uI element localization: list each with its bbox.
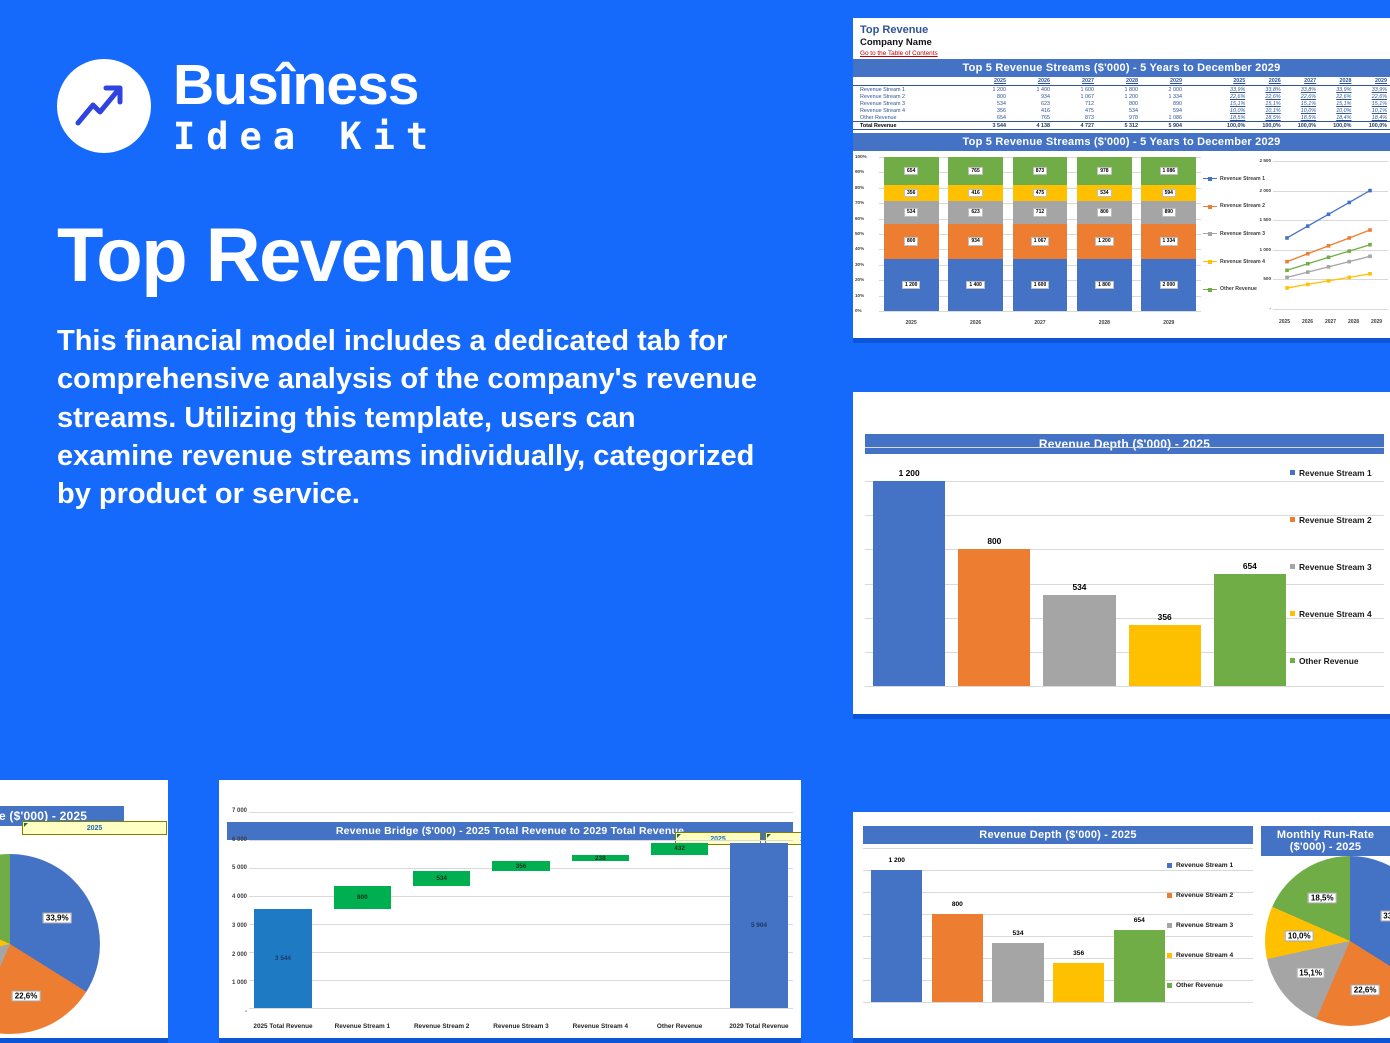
revenue-depth-panel[interactable]: Revenue Depth ($'000) - 2025 1 200800534… [853,392,1390,719]
bar-value-label: 800 [1097,208,1111,216]
depth-bar: 534 [992,943,1043,1002]
x-category-label: 2028 [1342,319,1365,325]
x-category-label: Revenue Stream 4 [566,1023,634,1030]
legend-label: Revenue Stream 1 [1299,468,1372,478]
row-pct: 10,1% [1354,107,1390,114]
bar-segment: 765 [948,157,1003,185]
bar-value-label: 534 [904,208,918,216]
bridge-bar: 5 904 [730,843,787,1008]
bar-value-label: 873 [1033,167,1047,175]
pie-chart-right: 33,9%22,6%15,1%10,0%18,5% [1265,856,1390,1026]
legend-item: Revenue Stream 3 [1290,562,1382,572]
row-value: 1 086 [1142,114,1186,122]
stacked-bar-column: 1 0865948901 3342 000 [1141,157,1196,311]
x-category-label: 2027 [1319,319,1342,325]
bar-segment: 890 [1141,201,1196,224]
legend-line-icon [1203,233,1217,234]
legend-swatch-icon [1167,983,1172,988]
x-category-label: 2028 [1077,320,1132,326]
y-tick-label: 60% [855,216,864,221]
gridline [865,686,1384,687]
brand-name-primary: Busîness [173,57,439,114]
year-header: 2029 [1142,77,1186,85]
bridge-bar: 3 544 [254,909,311,1008]
legend-label: Other Revenue [1176,982,1223,989]
bar-value-label: 623 [968,208,982,216]
legend-swatch-icon [1290,517,1295,522]
year-header: 2027 [1054,77,1098,85]
row-pct: 22,6% [1284,93,1319,100]
x-category-label: 2026 [948,320,1003,326]
bar-value-label: 1 400 [966,281,985,289]
bar-segment: 416 [948,185,1003,201]
pie-slices [0,854,100,1034]
bar-value-label: 978 [1097,167,1111,175]
table-total-row: Total Revenue3 5444 1384 7275 3125 90410… [853,122,1390,130]
x-category-label: Revenue Stream 3 [487,1023,555,1030]
row-value: 475 [1054,107,1098,114]
year-header: 2028 [1098,77,1142,85]
page-title: Top Revenue [57,212,512,299]
legend-label: Revenue Stream 1 [1220,176,1265,182]
row-label: Revenue Stream 2 [853,93,966,100]
row-pct: 15,1% [1354,100,1390,107]
bar-segment: 623 [948,201,1003,224]
pie-value-label: 22,6% [1351,984,1380,995]
bar-segment: 356 [884,185,939,200]
row-pct: 18,4% [1354,114,1390,122]
depth-bar: 654 [1214,574,1286,686]
sheet-header: Top Revenue Company Name Go to the Table… [853,18,1390,59]
depth-bar: 800 [958,549,1030,686]
x-category-label: 2025 Total Revenue [249,1023,317,1030]
revenue-depth-chart-2: 1 200800534356654 Revenue Stream 1Revenu… [863,848,1253,1002]
bar-value-label: 1 600 [1031,281,1050,289]
legend-label: Revenue Stream 4 [1220,259,1265,265]
x-category-label: 2029 [1365,319,1388,325]
bar-value-label: 475 [1033,189,1047,197]
bar-segment: 2 000 [1141,259,1196,311]
x-category-label: 2026 [1296,319,1319,325]
pie-chart-left: 33,9%22,6%15,1%10,0%18,5% [0,854,100,1034]
legend-item: Revenue Stream 2 [1290,515,1382,525]
stacked-bar-column: 9785348001 2001 800 [1077,157,1132,311]
pie-value-label: 33,9% [1380,911,1390,922]
row-value: 534 [1098,107,1142,114]
monthly-run-rate-panel-left[interactable]: Monthly Run-Rate ($'000) - 2025 2025 33,… [0,780,168,1043]
row-pct: 15,1% [1248,100,1283,107]
row-value: 873 [1054,114,1098,122]
row-pct: 33,9% [1213,86,1248,94]
row-value: 1 067 [1054,93,1098,100]
y-tick-label: 70% [855,200,864,205]
table-row: Revenue Stream 435641647553459410,0%10,1… [853,107,1390,114]
legend-swatch-icon [1290,564,1295,569]
chart-band-title: Top 5 Revenue Streams ($'000) - 5 Years … [853,133,1390,151]
row-pct: 33,8% [1284,86,1319,94]
row-value: 2 000 [1142,86,1186,94]
bar-value-label: 1 200 [902,281,921,289]
y-tick-label: 50% [855,231,864,236]
bridge-bar: 238 [572,855,629,862]
bar-segment: 1 334 [1141,224,1196,259]
bar-segment: 1 200 [1077,224,1132,259]
gridline [249,1008,793,1009]
depth-bar: 356 [1129,625,1201,686]
pie-value-label: 15,1% [1296,968,1325,979]
x-category-label: 2029 [1141,320,1196,326]
bar-segment: 800 [1077,201,1132,224]
legend-label: Revenue Stream 4 [1299,609,1372,619]
bar-segment: 1 800 [1077,259,1132,311]
depth-bar: 356 [1053,963,1104,1002]
trending-up-chart-icon [73,75,135,137]
depth-bar: 1 200 [873,481,945,686]
bar-value-label: 416 [968,189,982,197]
row-value: 800 [1098,100,1142,107]
bar-segment: 1 400 [948,259,1003,311]
pct-year-header: 2027 [1284,77,1319,85]
y-tick-label: 10% [855,293,864,298]
y-tick-label: 20% [855,277,864,282]
bar-segment: 1 086 [1141,157,1196,185]
depth-bar-value: 800 [958,536,1030,546]
year-header: 2026 [1010,77,1054,85]
row-label: Revenue Stream 3 [853,100,966,107]
y-tick-label: 7 000 [221,808,247,814]
table-band-title: Top 5 Revenue Streams ($'000) - 5 Years … [853,59,1390,77]
row-value: 712 [1054,100,1098,107]
y-tick-label: 100% [855,154,867,159]
y-tick-label: 2 000 [221,952,247,958]
legend-swatch-icon [1290,611,1295,616]
y-tick-label: 2 500 [1249,158,1271,163]
bridge-bar: 800 [334,886,391,908]
bar-segment: 594 [1141,185,1196,201]
row-pct: 10,0% [1213,107,1248,114]
row-value: 623 [1010,100,1054,107]
y-tick-label: 80% [855,185,864,190]
x-category-label: Revenue Stream 2 [408,1023,476,1030]
row-pct: 22,6% [1354,93,1390,100]
depth-bar-value: 800 [932,901,983,908]
row-pct: 18,5% [1284,114,1319,122]
bridge-column: 3 544 [249,812,317,1008]
legend-item: Revenue Stream 3 [1203,231,1265,237]
bar-segment: 654 [884,157,939,185]
x-category-label: Revenue Stream 1 [328,1023,396,1030]
row-pct: 10,0% [1319,107,1354,114]
year-selector-left[interactable]: 2025 [22,821,167,835]
bottom-right-charts-panel[interactable]: Revenue Depth ($'000) - 2025 1 200800534… [853,812,1390,1043]
bar-segment: 1 067 [1013,224,1068,259]
legend-label: Other Revenue [1299,656,1359,666]
panel-charts-row: 100%90%80%70%60%50%40%30%20%10%0% 654356… [853,151,1390,329]
brand-name-secondary: Idea Kit [173,118,439,155]
row-value: 1 400 [1010,86,1054,94]
y-tick-label: 30% [855,262,864,267]
legend-label: Revenue Stream 3 [1299,562,1372,572]
bridge-bar: 534 [413,871,470,886]
row-label: Revenue Stream 4 [853,107,966,114]
pie-value-label: 18,5% [1308,893,1337,904]
depth-bar-value: 654 [1214,561,1286,571]
table-row: Revenue Stream 353462371280089015,1%15,1… [853,100,1390,107]
legend-swatch-icon [1167,923,1172,928]
bridge-column: 238 [566,812,634,1008]
stacked-bar-column: 8734757121 0671 600 [1013,157,1068,311]
bar-value-label: 800 [904,237,918,245]
sheet-title: Top Revenue [860,24,1390,36]
bridge-bar: 432 [651,843,708,855]
depth-bar-value: 654 [1114,917,1165,924]
line-series-svg [1273,161,1376,309]
legend-label: Revenue Stream 4 [1176,952,1233,959]
row-pct: 15,1% [1319,100,1354,107]
row-value: 1 200 [966,86,1010,94]
window-titlebar [853,10,1390,18]
depth-bar: 534 [1043,595,1115,686]
row-pct: 22,6% [1319,93,1354,100]
revenue-depth-title-2: Revenue Depth ($'000) - 2025 [863,826,1253,844]
row-pct: 22,6% [1248,93,1283,100]
y-tick-label: 0% [855,308,862,313]
gridline [863,1002,1253,1003]
row-pct: 15,1% [1213,100,1248,107]
y-tick-label: 4 000 [221,894,247,900]
y-tick-label: 5 000 [221,865,247,871]
row-pct: 33,9% [1319,86,1354,94]
legend-swatch-icon [1167,953,1172,958]
legend-item: Other Revenue [1167,982,1251,989]
depth-bar: 800 [932,914,983,1002]
legend-swatch-icon [1167,893,1172,898]
bar-segment: 534 [884,201,939,224]
depth-bar: 1 200 [871,870,922,1002]
bar-segment: 873 [1013,157,1068,185]
y-tick-label: 1 500 [1249,217,1271,222]
depth-bar-value: 1 200 [873,468,945,478]
y-tick-label: - [1249,306,1271,311]
year-header: 2025 [966,77,1010,85]
stacked-bar-chart: 100%90%80%70%60%50%40%30%20%10%0% 654356… [853,151,1205,329]
legend-line-icon [1203,206,1217,207]
revenue-bridge-chart: 3 5448005343562384325 904 [219,780,801,1038]
legend-item: Revenue Stream 4 [1290,609,1382,619]
pie-slices [1265,856,1390,1026]
revenue-depth-chart: 1 200800534356654 Revenue Stream 1Revenu… [853,392,1390,714]
gridline [879,311,1201,312]
run-rate-title-right: Monthly Run-Rate ($'000) - 2025 [1261,826,1390,856]
legend-label: Revenue Stream 3 [1220,231,1265,237]
row-pct: 33,9% [1354,86,1390,94]
bridge-column: 534 [408,812,476,1008]
row-pct: 15,1% [1284,100,1319,107]
bar-segment: 475 [1013,185,1068,200]
y-tick-label: 1 000 [1249,247,1271,252]
hero-section: Busîness Idea Kit Top Revenue This finan… [0,0,840,780]
legend-item: Other Revenue [1203,286,1265,292]
bar-value-label: 765 [968,167,982,175]
row-value: 978 [1098,114,1142,122]
bar-value-label: 534 [1097,189,1111,197]
table-row: Revenue Stream 11 2001 4001 6001 8002 00… [853,86,1390,94]
depth-bar: 654 [1114,930,1165,1002]
row-pct: 18,5% [1248,114,1283,122]
bar-value-label: 1 067 [1031,237,1050,245]
sheet-company: Company Name [860,37,1390,48]
row-value: 1 334 [1142,93,1186,100]
legend-item: Other Revenue [1290,656,1382,666]
row-value: 594 [1142,107,1186,114]
row-value: 356 [966,107,1010,114]
bar-value-label: 712 [1033,208,1047,216]
bar-value-label: 356 [904,189,918,197]
x-category-label: Other Revenue [646,1023,714,1030]
bar-segment: 1 600 [1013,259,1068,311]
row-value: 800 [966,93,1010,100]
bridge-column: 5 904 [725,812,793,1008]
legend-line-icon [1203,289,1217,290]
bar-value-label: 1 800 [1095,281,1114,289]
legend-label: Other Revenue [1220,286,1257,292]
bridge-column: 432 [646,812,714,1008]
bar-segment: 712 [1013,201,1068,224]
revenue-bridge-panel[interactable]: Revenue Bridge ($'000) - 2025 Total Reve… [219,780,801,1043]
row-value: 934 [1010,93,1054,100]
row-pct: 22,6% [1213,93,1248,100]
depth-bar-value: 534 [1043,582,1115,592]
table-row: Revenue Stream 28009341 0671 2001 33422,… [853,93,1390,100]
legend-label: Revenue Stream 1 [1176,862,1233,869]
bar-segment: 934 [948,224,1003,259]
page-description: This financial model includes a dedicate… [57,322,757,513]
legend-item: Revenue Stream 4 [1203,259,1265,265]
legend-item: Revenue Stream 3 [1167,922,1251,929]
y-tick-label: - [221,1009,247,1015]
pct-year-header: 2025 [1213,77,1248,85]
legend-line-icon [1203,261,1217,262]
pct-year-header: 2026 [1248,77,1283,85]
row-value: 1 800 [1098,86,1142,94]
row-pct: 10,0% [1284,107,1319,114]
stacked-bar-column: 6543565348001 200 [884,157,939,311]
y-tick-label: 2 000 [1249,188,1271,193]
legend-swatch-icon [1290,470,1295,475]
depth-bar-value: 356 [1053,950,1104,957]
legend-label: Revenue Stream 2 [1220,203,1265,209]
bar-value-label: 2 000 [1160,281,1179,289]
bar-value-label: 654 [904,167,918,175]
stacked-bar-column: 7654166239341 400 [948,157,1003,311]
table-row: Other Revenue6547658739781 08618,5%18,5%… [853,114,1390,122]
legend-label: Revenue Stream 2 [1299,515,1372,525]
pie-value-label: 10,0% [1285,930,1314,941]
pct-year-header: 2029 [1354,77,1390,85]
bar-segment: 800 [884,224,939,259]
bridge-column: 356 [487,812,555,1008]
legend-line-icon [1203,178,1217,179]
logo-badge [57,59,151,153]
y-tick-label: 3 000 [221,923,247,929]
bar-value-label: 594 [1162,189,1176,197]
pie-value-label: 22,6% [12,990,41,1001]
row-label: Revenue Stream 1 [853,86,966,94]
legend-item: Revenue Stream 1 [1203,176,1265,182]
depth-bar-value: 356 [1129,612,1201,622]
y-tick-label: 6 000 [221,837,247,843]
table-header-row: 2025202620272028202920252026202720282029 [853,77,1390,85]
table-of-contents-link[interactable]: Go to the Table of Contents [860,50,1390,57]
row-value: 534 [966,100,1010,107]
x-category-label: 2027 [1013,320,1068,326]
x-category-label: 2025 [1273,319,1296,325]
bar-value-label: 890 [1162,208,1176,216]
gridline [1273,309,1388,310]
depth-bar-value: 534 [992,930,1043,937]
row-pct: 18,5% [1213,114,1248,122]
y-tick-label: 90% [855,169,864,174]
row-value: 765 [1010,114,1054,122]
y-tick-label: 40% [855,246,864,251]
legend-item: Revenue Stream 4 [1167,952,1251,959]
y-tick-label: 500 [1249,276,1271,281]
x-category-label: 2029 Total Revenue [725,1023,793,1030]
revenue-table: 2025202620272028202920252026202720282029… [853,77,1390,130]
pie-value-label: 33,9% [43,912,72,923]
depth-bar-value: 1 200 [871,857,922,864]
legend-label: Revenue Stream 3 [1176,922,1233,929]
row-pct: 10,1% [1248,107,1283,114]
row-value: 416 [1010,107,1054,114]
row-value: 1 200 [1098,93,1142,100]
pct-year-header: 2028 [1319,77,1354,85]
row-value: 890 [1142,100,1186,107]
legend-swatch-icon [1290,658,1295,663]
row-value: 654 [966,114,1010,122]
brand-logo: Busîness Idea Kit [57,57,439,155]
row-pct: 18,4% [1319,114,1354,122]
row-label: Other Revenue [853,114,966,122]
line-chart: Revenue Stream 1Revenue Stream 2Revenue … [1205,151,1390,329]
row-value: 1 600 [1054,86,1098,94]
x-category-label: 2025 [884,320,939,326]
bar-segment: 534 [1077,185,1132,200]
bridge-column: 800 [328,812,396,1008]
legend-label: Revenue Stream 2 [1176,892,1233,899]
legend-item: Revenue Stream 1 [1167,862,1251,869]
spreadsheet-panel[interactable]: Top Revenue Company Name Go to the Table… [853,10,1390,343]
bar-segment: 1 200 [884,259,939,311]
bar-value-label: 1 200 [1095,237,1114,245]
row-pct: 33,8% [1248,86,1283,94]
legend-item: Revenue Stream 2 [1203,203,1265,209]
y-tick-label: 1 000 [221,980,247,986]
legend-item: Revenue Stream 1 [1290,468,1382,478]
bar-segment: 978 [1077,157,1132,185]
legend-swatch-icon [1167,863,1172,868]
bar-value-label: 934 [968,237,982,245]
bridge-bar: 356 [492,861,549,871]
bar-value-label: 1 086 [1160,167,1179,175]
bar-value-label: 1 334 [1160,237,1179,245]
legend-item: Revenue Stream 2 [1167,892,1251,899]
